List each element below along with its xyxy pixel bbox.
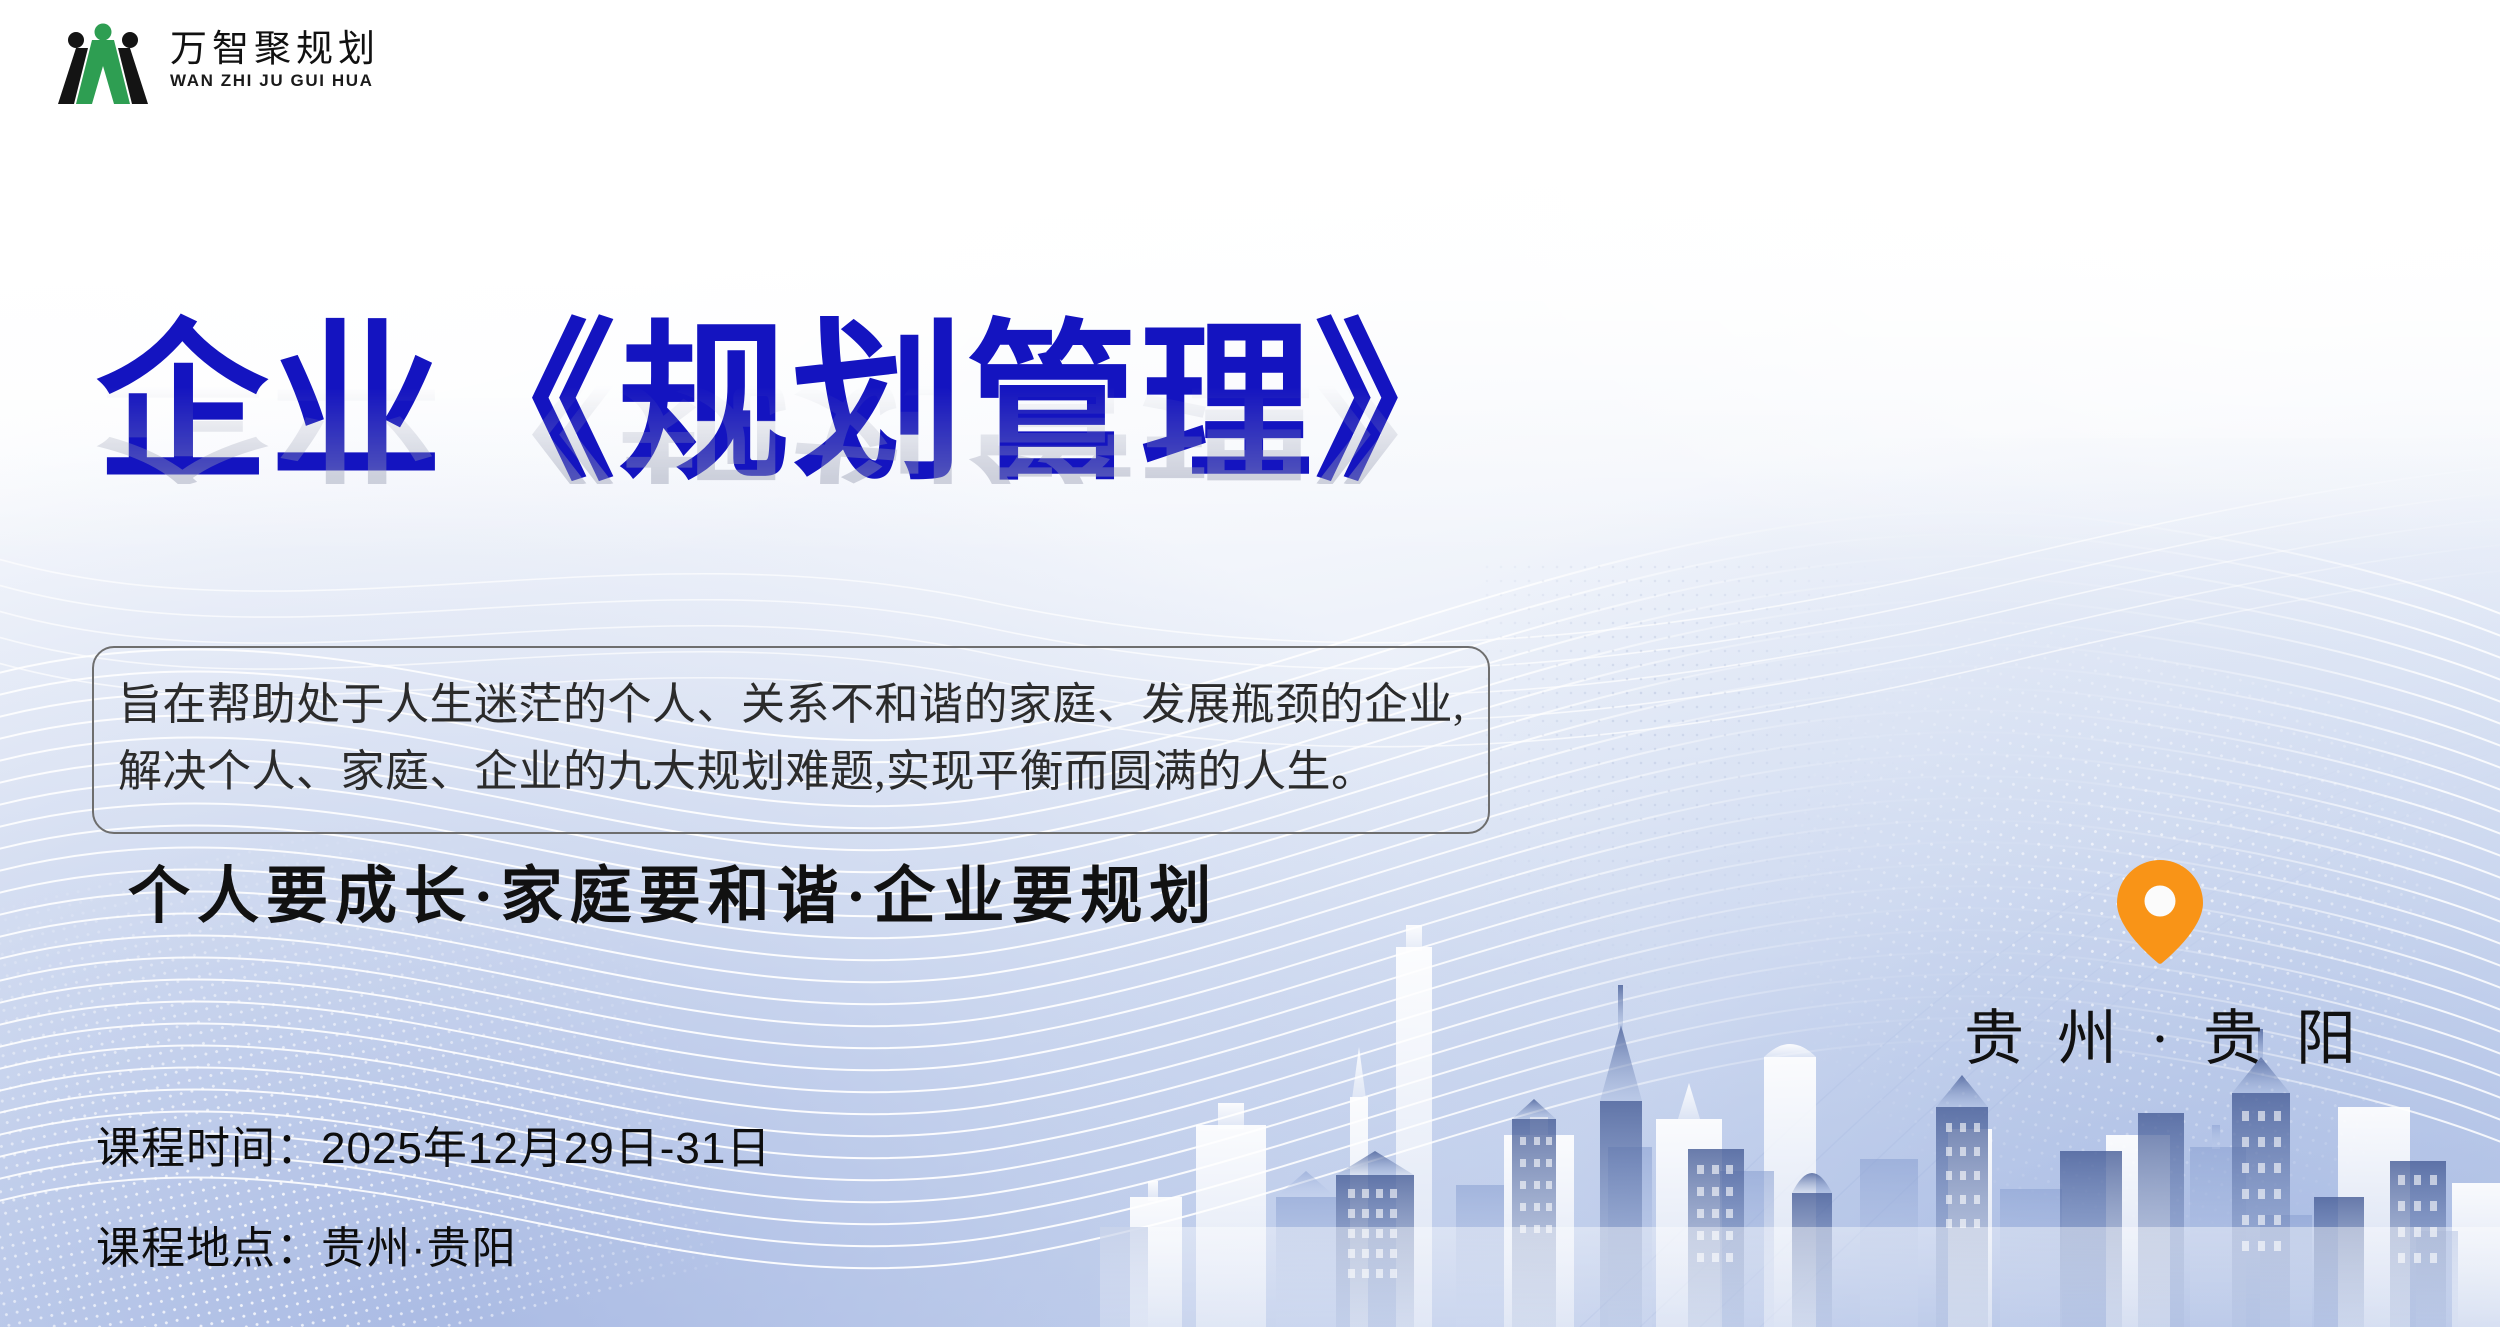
page-title: 企业《规划管理》 (96, 318, 1488, 490)
description-box: 旨在帮助处于人生迷茫的个人、关系不和谐的家庭、发展瓶颈的企业, 解决个人、家庭、… (92, 646, 1490, 834)
halftone-dots-center-icon (1480, 560, 1900, 1030)
slogan-text: 个人要成长·家庭要和谐·企业要规划 (128, 845, 1218, 935)
poster-canvas: 万智聚规划 WAN ZHI JU GUI HUA 企业《规划管理》 企业《规划管… (0, 0, 2500, 1327)
course-place: 课程地点：贵州·贵阳 (96, 1212, 771, 1276)
location-block: 贵 州 · 贵 阳 (1950, 860, 2370, 1077)
description-line-1: 旨在帮助处于人生迷茫的个人、关系不和谐的家庭、发展瓶颈的企业, (118, 672, 1462, 739)
brand-logo[interactable]: 万智聚规划 WAN ZHI JU GUI HUA (52, 18, 380, 104)
course-time: 课程时间：2025年12月29日-31日 (96, 1112, 771, 1176)
three-people-mark-icon (52, 18, 154, 104)
brand-name-pinyin: WAN ZHI JU GUI HUA (170, 71, 380, 91)
course-info: 课程时间：2025年12月29日-31日 课程地点：贵州·贵阳 (96, 1112, 771, 1276)
brand-text: 万智聚规划 WAN ZHI JU GUI HUA (170, 31, 380, 92)
description-line-2: 解决个人、家庭、企业的九大规划难题,实现平衡而圆满的人生。 (118, 739, 1462, 806)
hero-title-zone: 企业《规划管理》 企业《规划管理》 (96, 318, 1488, 656)
map-pin-icon (2117, 860, 2203, 964)
brand-name-cn: 万智聚规划 (170, 31, 380, 70)
location-name: 贵 州 · 贵 阳 (1955, 990, 2365, 1077)
